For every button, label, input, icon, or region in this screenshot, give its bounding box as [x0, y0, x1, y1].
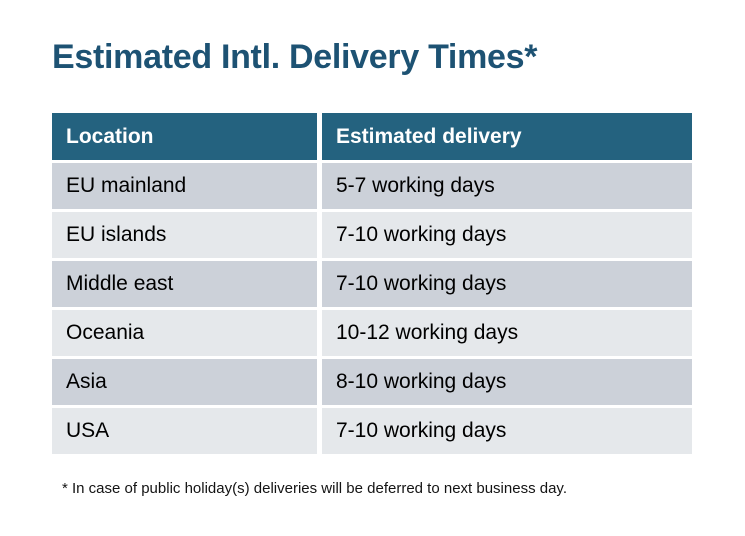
- table-row: EU islands 7-10 working days: [52, 212, 692, 258]
- cell-location: EU mainland: [52, 163, 317, 209]
- footnote-text: * In case of public holiday(s) deliverie…: [62, 479, 567, 499]
- table-row: Asia 8-10 working days: [52, 359, 692, 405]
- column-header-location: Location: [52, 113, 317, 160]
- column-header-estimated-delivery: Estimated delivery: [322, 113, 692, 160]
- cell-location: USA: [52, 408, 317, 454]
- table-row: Middle east 7-10 working days: [52, 261, 692, 307]
- cell-estimated-delivery: 5-7 working days: [322, 163, 692, 209]
- cell-estimated-delivery: 10-12 working days: [322, 310, 692, 356]
- table-header-row: Location Estimated delivery: [52, 113, 692, 160]
- cell-estimated-delivery: 7-10 working days: [322, 212, 692, 258]
- cell-location: EU islands: [52, 212, 317, 258]
- page-title: Estimated Intl. Delivery Times*: [52, 36, 537, 78]
- cell-location: Oceania: [52, 310, 317, 356]
- table-row: EU mainland 5-7 working days: [52, 163, 692, 209]
- delivery-times-table: Location Estimated delivery EU mainland …: [52, 113, 692, 454]
- cell-estimated-delivery: 7-10 working days: [322, 408, 692, 454]
- cell-estimated-delivery: 8-10 working days: [322, 359, 692, 405]
- cell-location: Middle east: [52, 261, 317, 307]
- cell-estimated-delivery: 7-10 working days: [322, 261, 692, 307]
- table-row: Oceania 10-12 working days: [52, 310, 692, 356]
- cell-location: Asia: [52, 359, 317, 405]
- table-row: USA 7-10 working days: [52, 408, 692, 454]
- delivery-times-panel: Estimated Intl. Delivery Times* Location…: [0, 0, 745, 536]
